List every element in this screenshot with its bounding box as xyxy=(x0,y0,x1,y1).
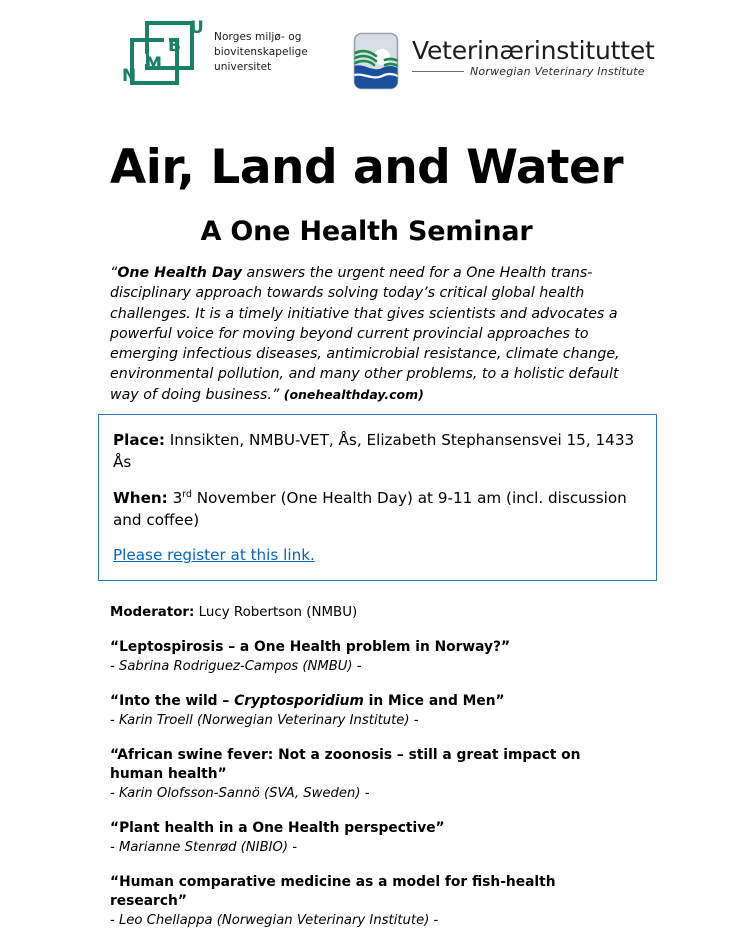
place-label: Place: xyxy=(113,431,165,449)
moderator-value: Lucy Robertson (NMBU) xyxy=(194,605,357,620)
veterinary-institute-name: Veterinærinstituttet xyxy=(412,37,655,64)
quote-block: “One Health Day answers the urgent need … xyxy=(110,263,628,405)
event-details-box: Place: Innsikten, NMBU-VET, Ås, Elizabet… xyxy=(98,414,657,581)
place-line: Place: Innsikten, NMBU-VET, Ås, Elizabet… xyxy=(113,429,640,473)
quote-source: (onehealthday.com) xyxy=(284,387,424,402)
talk-item: “African swine fever: Not a zoonosis – s… xyxy=(110,746,630,803)
page-title: Air, Land and Water xyxy=(0,140,733,196)
nmbu-letter-n: N xyxy=(122,66,136,86)
talk-title: “Plant health in a One Health perspectiv… xyxy=(110,819,630,838)
divider-rule xyxy=(412,71,464,72)
logo-header: N M B U M B Norges miljø- og biovitenska… xyxy=(0,0,733,112)
nmbu-letter-u: U xyxy=(190,18,204,38)
talk-speaker: - Leo Chellappa (Norwegian Veterinary In… xyxy=(110,911,630,930)
place-value: Innsikten, NMBU-VET, Ås, Elizabeth Steph… xyxy=(113,431,634,471)
svg-text:B: B xyxy=(168,36,181,56)
when-value-pre: 3 xyxy=(168,489,183,507)
nmbu-logo-text: Norges miljø- og biovitenskapelige unive… xyxy=(214,30,308,75)
talk-title-pre: “African swine fever: Not a zoonosis – s… xyxy=(110,747,580,782)
talk-speaker: - Karin Troell (Norwegian Veterinary Ins… xyxy=(110,711,630,730)
when-line: When: 3rd November (One Health Day) at 9… xyxy=(113,487,640,531)
talk-item: “Leptospirosis – a One Health problem in… xyxy=(110,638,630,676)
nmbu-mark-icon: N M B U M B xyxy=(120,13,206,91)
talk-title-pre: “Into the wild – xyxy=(110,693,234,709)
talk-title: “Leptospirosis – a One Health problem in… xyxy=(110,638,630,657)
talk-item: “Human comparative medicine as a model f… xyxy=(110,873,630,930)
svg-text:M: M xyxy=(145,54,162,74)
veterinary-institute-wordmark: Veterinærinstituttet Norwegian Veterinar… xyxy=(412,31,655,78)
quote-bold-lead: One Health Day xyxy=(117,265,242,281)
veterinary-institute-subtitle: Norwegian Veterinary Institute xyxy=(470,65,645,78)
page-subtitle: A One Health Seminar xyxy=(0,215,733,248)
register-link[interactable]: Please register at this link. xyxy=(113,545,315,566)
quote-body: answers the urgent need for a One Health… xyxy=(110,265,620,403)
talk-title: “Into the wild – Cryptosporidium in Mice… xyxy=(110,692,630,711)
talk-speaker: - Marianne Stenrød (NIBIO) - xyxy=(110,838,630,857)
when-ordinal-suffix: rd xyxy=(182,489,192,500)
when-label: When: xyxy=(113,489,168,507)
veterinary-institute-subtitle-row: Norwegian Veterinary Institute xyxy=(412,65,655,78)
veterinary-institute-logo: Veterinærinstituttet Norwegian Veterinar… xyxy=(352,31,655,91)
talk-title-pre: “Plant health in a One Health perspectiv… xyxy=(110,820,445,836)
programme-list: Moderator: Lucy Robertson (NMBU) “Leptos… xyxy=(110,603,630,946)
talk-title-pre: “Leptospirosis – a One Health problem in… xyxy=(110,639,510,655)
veterinary-institute-mark-icon xyxy=(352,31,400,91)
moderator-line: Moderator: Lucy Robertson (NMBU) xyxy=(110,603,630,622)
talk-item: “Plant health in a One Health perspectiv… xyxy=(110,819,630,857)
nmbu-logo: N M B U M B Norges miljø- og biovitenska… xyxy=(120,13,308,91)
talk-title-pre: “Human comparative medicine as a model f… xyxy=(110,874,556,909)
talk-title-italic: Cryptosporidium xyxy=(234,693,364,709)
talk-speaker: - Sabrina Rodriguez-Campos (NMBU) - xyxy=(110,657,630,676)
seminar-poster: N M B U M B Norges miljø- og biovitenska… xyxy=(0,0,733,907)
talk-title-post: in Mice and Men” xyxy=(364,693,505,709)
talk-title: “Human comparative medicine as a model f… xyxy=(110,873,630,911)
talk-title: “African swine fever: Not a zoonosis – s… xyxy=(110,746,630,784)
talk-speaker: - Karin Olofsson-Sannö (SVA, Sweden) - xyxy=(110,784,630,803)
moderator-label: Moderator: xyxy=(110,605,194,620)
talk-item: “Into the wild – Cryptosporidium in Mice… xyxy=(110,692,630,730)
